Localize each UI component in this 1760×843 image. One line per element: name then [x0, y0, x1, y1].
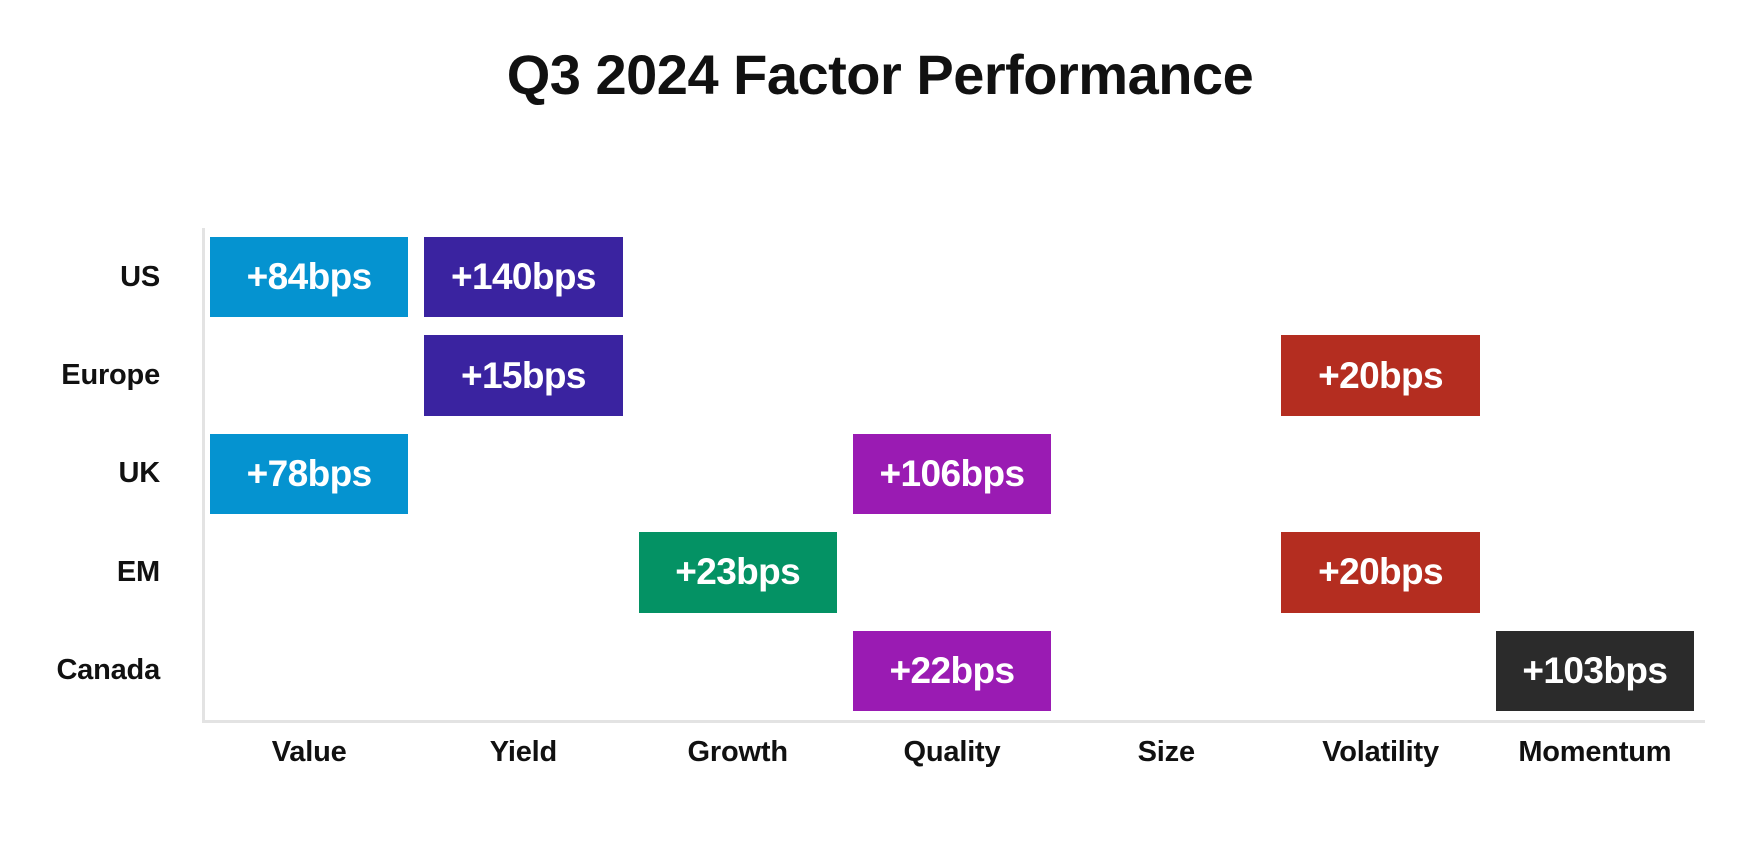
- y-axis-tick-europe: Europe: [0, 326, 182, 424]
- cell-canada-growth: [631, 622, 845, 720]
- y-axis-tick-uk: UK: [0, 425, 182, 523]
- plot-wrapper: US Europe UK EM Canada +84bps +140bps +1…: [0, 0, 1760, 843]
- bar-canada-quality: +22bps: [853, 631, 1051, 711]
- cell-em-size: [1059, 523, 1273, 621]
- heatmap-grid: +84bps +140bps +15bps +20bps +78bps +106…: [202, 228, 1702, 720]
- bar-us-value: +84bps: [210, 237, 408, 317]
- bar-em-growth: +23bps: [639, 532, 837, 612]
- cell-us-quality: [845, 228, 1059, 326]
- cell-uk-value: +78bps: [202, 425, 416, 523]
- cell-canada-quality: +22bps: [845, 622, 1059, 720]
- cell-canada-value: [202, 622, 416, 720]
- cell-uk-growth: [631, 425, 845, 523]
- cell-em-momentum: [1488, 523, 1702, 621]
- cell-em-volatility: +20bps: [1273, 523, 1487, 621]
- cell-us-yield: +140bps: [416, 228, 630, 326]
- cell-europe-volatility: +20bps: [1273, 326, 1487, 424]
- cell-em-yield: [416, 523, 630, 621]
- y-axis-tick-canada: Canada: [0, 622, 182, 720]
- bar-canada-momentum: +103bps: [1496, 631, 1694, 711]
- cell-canada-yield: [416, 622, 630, 720]
- cell-us-growth: [631, 228, 845, 326]
- cell-canada-volatility: [1273, 622, 1487, 720]
- cell-europe-momentum: [1488, 326, 1702, 424]
- x-axis-tick-momentum: Momentum: [1488, 728, 1702, 788]
- factor-performance-chart: Q3 2024 Factor Performance US Europe UK …: [0, 0, 1760, 843]
- cell-us-momentum: [1488, 228, 1702, 326]
- cell-us-volatility: [1273, 228, 1487, 326]
- cell-europe-size: [1059, 326, 1273, 424]
- y-axis-tick-em: EM: [0, 523, 182, 621]
- cell-em-quality: [845, 523, 1059, 621]
- bar-us-yield: +140bps: [424, 237, 622, 317]
- x-axis-tick-quality: Quality: [845, 728, 1059, 788]
- bar-uk-value: +78bps: [210, 434, 408, 514]
- cell-europe-value: [202, 326, 416, 424]
- x-axis-tick-yield: Yield: [416, 728, 630, 788]
- cell-em-growth: +23bps: [631, 523, 845, 621]
- bar-europe-yield: +15bps: [424, 335, 622, 415]
- cell-europe-growth: [631, 326, 845, 424]
- bar-uk-quality: +106bps: [853, 434, 1051, 514]
- bar-europe-volatility: +20bps: [1281, 335, 1479, 415]
- cell-uk-volatility: [1273, 425, 1487, 523]
- cell-canada-momentum: +103bps: [1488, 622, 1702, 720]
- cell-europe-yield: +15bps: [416, 326, 630, 424]
- y-axis-labels: US Europe UK EM Canada: [0, 228, 182, 720]
- bar-em-volatility: +20bps: [1281, 532, 1479, 612]
- x-axis-labels: Value Yield Growth Quality Size Volatili…: [202, 728, 1702, 788]
- x-axis-tick-growth: Growth: [631, 728, 845, 788]
- cell-us-size: [1059, 228, 1273, 326]
- x-axis-tick-volatility: Volatility: [1273, 728, 1487, 788]
- cell-uk-momentum: [1488, 425, 1702, 523]
- cell-uk-yield: [416, 425, 630, 523]
- cell-em-value: [202, 523, 416, 621]
- x-axis-tick-size: Size: [1059, 728, 1273, 788]
- x-axis-tick-value: Value: [202, 728, 416, 788]
- cell-uk-quality: +106bps: [845, 425, 1059, 523]
- cell-europe-quality: [845, 326, 1059, 424]
- cell-uk-size: [1059, 425, 1273, 523]
- cell-us-value: +84bps: [202, 228, 416, 326]
- y-axis-tick-us: US: [0, 228, 182, 326]
- cell-canada-size: [1059, 622, 1273, 720]
